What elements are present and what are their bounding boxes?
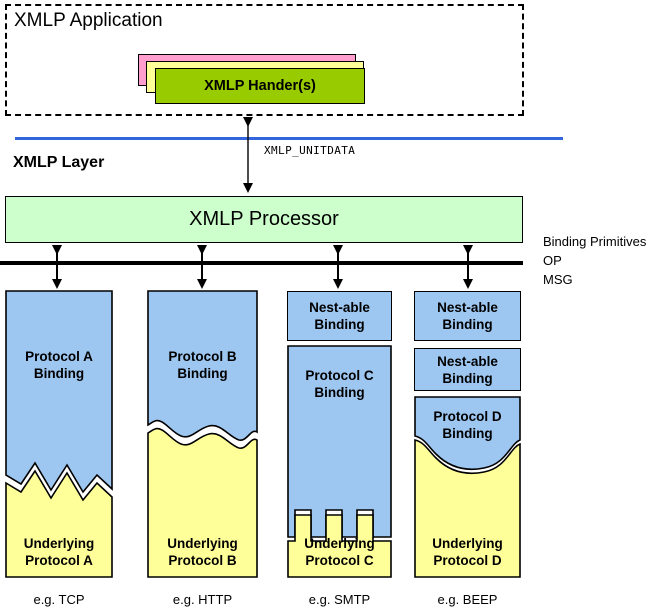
protocol-stack-a: Protocol A Binding Underlying Protocol A xyxy=(5,290,113,578)
nestable-binding-d-1-label: Nest-able Binding xyxy=(437,299,498,333)
handler-card-front: XMLP Hander(s) xyxy=(155,68,365,104)
protocol-stack-d: Protocol D Binding Underlying Protocol D xyxy=(414,396,521,578)
xmlp-layer-title: XMLP Layer xyxy=(13,154,104,172)
diagram-canvas: XMLP Application XMLP Hander(s) XMLP Lay… xyxy=(0,0,669,614)
example-label-d: e.g. BEEP xyxy=(414,592,521,607)
handler-card-label: XMLP Hander(s) xyxy=(204,78,316,94)
binding-primitives-heading: Binding Primitives xyxy=(543,232,646,251)
binding-interface-line xyxy=(0,261,523,265)
binding-primitives-legend: Binding Primitives OP MSG xyxy=(543,232,646,289)
nestable-binding-d-1: Nest-able Binding xyxy=(414,291,521,341)
example-label-a: e.g. TCP xyxy=(5,592,113,607)
nestable-binding-c-1-label: Nest-able Binding xyxy=(309,299,370,333)
xmlp-application-title: XMLP Application xyxy=(14,10,163,32)
protocol-stack-b: Protocol B Binding Underlying Protocol B xyxy=(147,290,258,578)
nestable-binding-c-1: Nest-able Binding xyxy=(287,291,392,341)
protocol-stack-c: Protocol C Binding Underlying Protocol C xyxy=(287,345,392,578)
xmlp-layer-divider xyxy=(15,137,563,140)
nestable-binding-d-2-label: Nest-able Binding xyxy=(437,353,498,387)
protocol-stack-d-shape xyxy=(414,396,521,578)
binding-primitive-op: OP xyxy=(543,251,646,270)
example-label-b: e.g. HTTP xyxy=(147,592,258,607)
nestable-binding-d-2: Nest-able Binding xyxy=(414,348,521,391)
xmlp-processor-box: XMLP Processor xyxy=(5,196,523,243)
xmlp-unitdata-label: XMLP_UNITDATA xyxy=(264,144,355,157)
protocol-stack-b-shape xyxy=(147,290,258,578)
example-label-c: e.g. SMTP xyxy=(287,592,392,607)
xmlp-processor-label: XMLP Processor xyxy=(189,208,339,231)
binding-primitive-msg: MSG xyxy=(543,270,646,289)
protocol-stack-c-shape xyxy=(287,345,392,578)
protocol-stack-a-shape xyxy=(5,290,113,578)
